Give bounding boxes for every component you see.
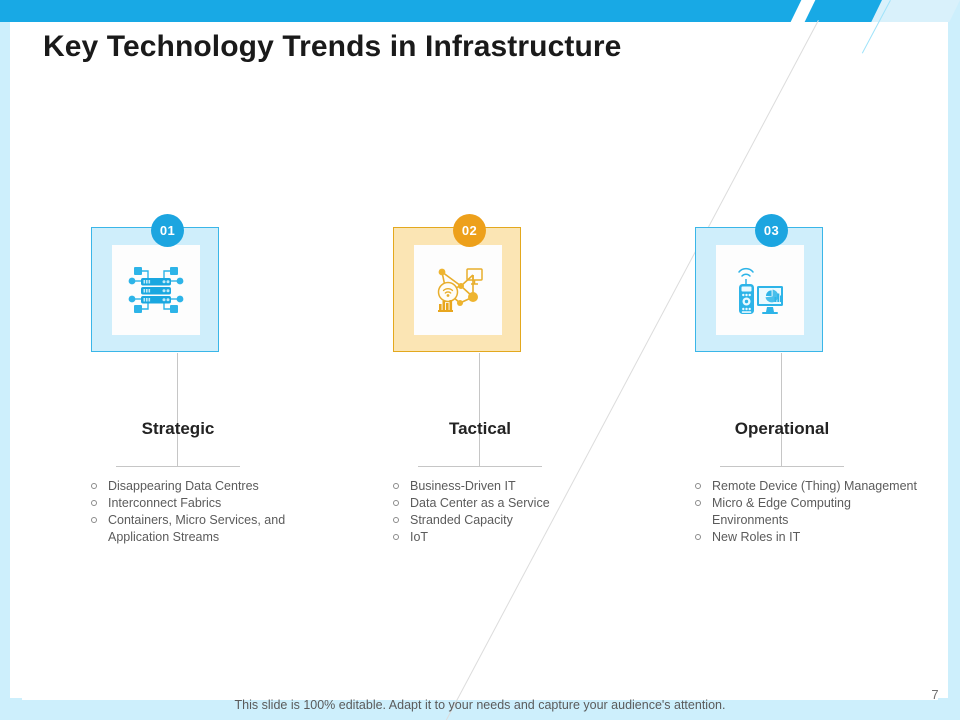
left-edge-accent	[0, 0, 10, 720]
connector-line	[177, 353, 178, 466]
bullet-text: Data Center as a Service	[410, 496, 550, 510]
server-rack-network-icon	[125, 259, 187, 321]
page-number: 7	[925, 687, 945, 702]
bullet-marker-icon	[91, 517, 97, 523]
bullet-marker-icon	[393, 483, 399, 489]
right-edge-accent	[948, 0, 960, 720]
iot-network-graph-icon	[427, 259, 489, 321]
connector-line	[479, 353, 480, 466]
card-icon-panel	[112, 245, 200, 335]
column-heading: Tactical	[330, 419, 630, 439]
list-item: Remote Device (Thing) Management	[692, 478, 924, 495]
list-item: Containers, Micro Services, and Applicat…	[88, 512, 320, 546]
bullet-text: Remote Device (Thing) Management	[712, 479, 917, 493]
trend-column-strategic: 01 Strategic Disappearing Data Centres I…	[28, 214, 328, 369]
bullet-marker-icon	[91, 500, 97, 506]
trend-column-operational: 03 Operational Remote Device (Thing) Man…	[632, 214, 932, 369]
bullet-text: IoT	[410, 530, 428, 544]
list-item: Data Center as a Service	[390, 495, 622, 512]
bullet-marker-icon	[393, 534, 399, 540]
bullet-text: Stranded Capacity	[410, 513, 513, 527]
list-item: Micro & Edge Computing Environments	[692, 495, 924, 529]
list-item: Disappearing Data Centres	[88, 478, 320, 495]
step-badge: 02	[453, 214, 486, 247]
footer-note: This slide is 100% editable. Adapt it to…	[0, 698, 960, 712]
bullet-text: Containers, Micro Services, and Applicat…	[108, 513, 285, 544]
list-item: Interconnect Fabrics	[88, 495, 320, 512]
bullet-text: Interconnect Fabrics	[108, 496, 221, 510]
card-wrap: 01	[28, 214, 328, 369]
trend-card[interactable]	[91, 227, 219, 352]
heading-divider	[116, 466, 240, 467]
trend-card[interactable]	[695, 227, 823, 352]
bullet-list: Disappearing Data Centres Interconnect F…	[88, 478, 320, 546]
slide-canvas: Key Technology Trends in Infrastructure	[0, 0, 960, 720]
connector-line	[781, 353, 782, 466]
trend-column-tactical: 02 Tactical Business-Driven IT Data Cent…	[330, 214, 630, 369]
remote-device-monitor-icon	[729, 259, 791, 321]
card-wrap: 03	[632, 214, 932, 369]
trend-card[interactable]	[393, 227, 521, 352]
top-accent-bar	[0, 0, 960, 22]
bullet-marker-icon	[695, 483, 701, 489]
bullet-marker-icon	[393, 500, 399, 506]
bullet-marker-icon	[695, 500, 701, 506]
list-item: Business-Driven IT	[390, 478, 622, 495]
card-icon-panel	[414, 245, 502, 335]
bullet-text: Business-Driven IT	[410, 479, 516, 493]
list-item: IoT	[390, 529, 622, 546]
bullet-marker-icon	[695, 534, 701, 540]
heading-divider	[720, 466, 844, 467]
bullet-text: Disappearing Data Centres	[108, 479, 259, 493]
list-item: New Roles in IT	[692, 529, 924, 546]
card-wrap: 02	[330, 214, 630, 369]
page-title: Key Technology Trends in Infrastructure	[43, 30, 621, 64]
bullet-list: Business-Driven IT Data Center as a Serv…	[390, 478, 622, 546]
column-heading: Operational	[632, 419, 932, 439]
bullet-list: Remote Device (Thing) Management Micro &…	[692, 478, 924, 546]
step-badge: 03	[755, 214, 788, 247]
column-heading: Strategic	[28, 419, 328, 439]
card-icon-panel	[716, 245, 804, 335]
bullet-text: Micro & Edge Computing Environments	[712, 496, 851, 527]
top-bar-white-block	[926, 22, 948, 36]
list-item: Stranded Capacity	[390, 512, 622, 529]
heading-divider	[418, 466, 542, 467]
bullet-text: New Roles in IT	[712, 530, 800, 544]
bullet-marker-icon	[91, 483, 97, 489]
bullet-marker-icon	[393, 517, 399, 523]
step-badge: 01	[151, 214, 184, 247]
